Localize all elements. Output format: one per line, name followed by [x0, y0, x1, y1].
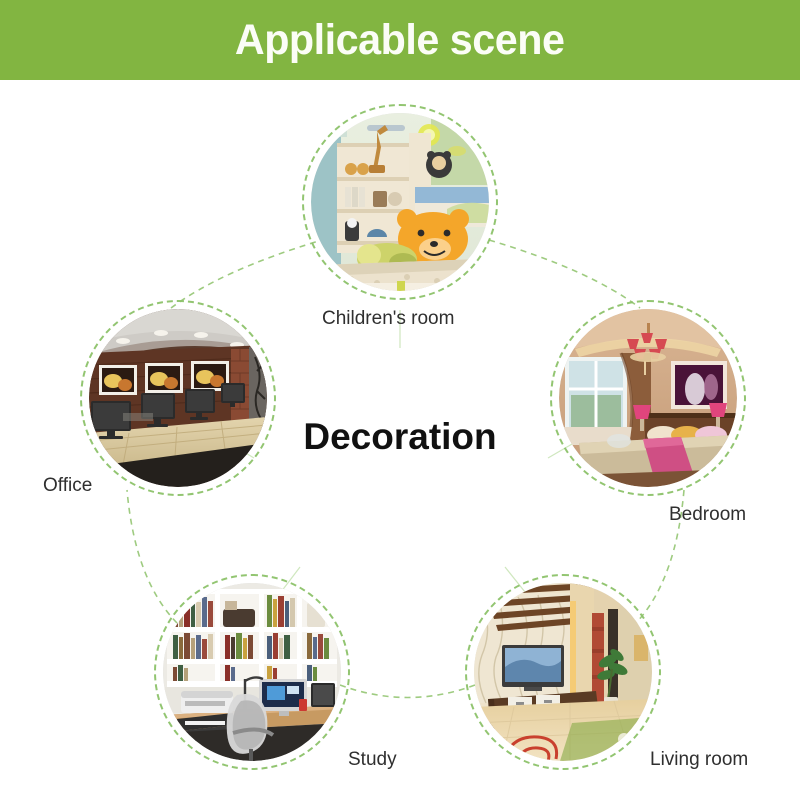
arc-left-top: [171, 240, 322, 308]
scene-label-office: Office: [43, 476, 92, 495]
header-banner: Applicable scene: [0, 0, 800, 80]
center-title: Decoration: [0, 418, 800, 455]
scene-label-study: Study: [348, 750, 397, 769]
scene-node-bedroom[interactable]: Bedroom: [559, 309, 737, 487]
scene-node-living-room[interactable]: Living room: [474, 583, 652, 761]
photo-office: [89, 309, 267, 487]
scene-node-office[interactable]: Office: [89, 309, 267, 487]
scene-label-bedroom: Bedroom: [669, 505, 746, 524]
scene-label-childrens-room: Children's room: [322, 309, 454, 328]
applicable-scene-infographic: Applicable scene: [0, 0, 800, 800]
photo-living-room: [474, 583, 652, 761]
scene-node-study[interactable]: Study: [163, 583, 341, 761]
arc-bottomright-bottomleft: [340, 685, 475, 698]
scene-node-childrens-room[interactable]: Children's room: [311, 113, 489, 291]
photo-study: [163, 583, 341, 761]
scene-diagram: Children's room: [0, 80, 800, 800]
scene-label-living-room: Living room: [650, 750, 748, 769]
page-title: Applicable scene: [235, 19, 565, 62]
photo-childrens-room: [311, 113, 489, 291]
arc-top-right: [489, 240, 640, 308]
photo-bedroom: [559, 309, 737, 487]
